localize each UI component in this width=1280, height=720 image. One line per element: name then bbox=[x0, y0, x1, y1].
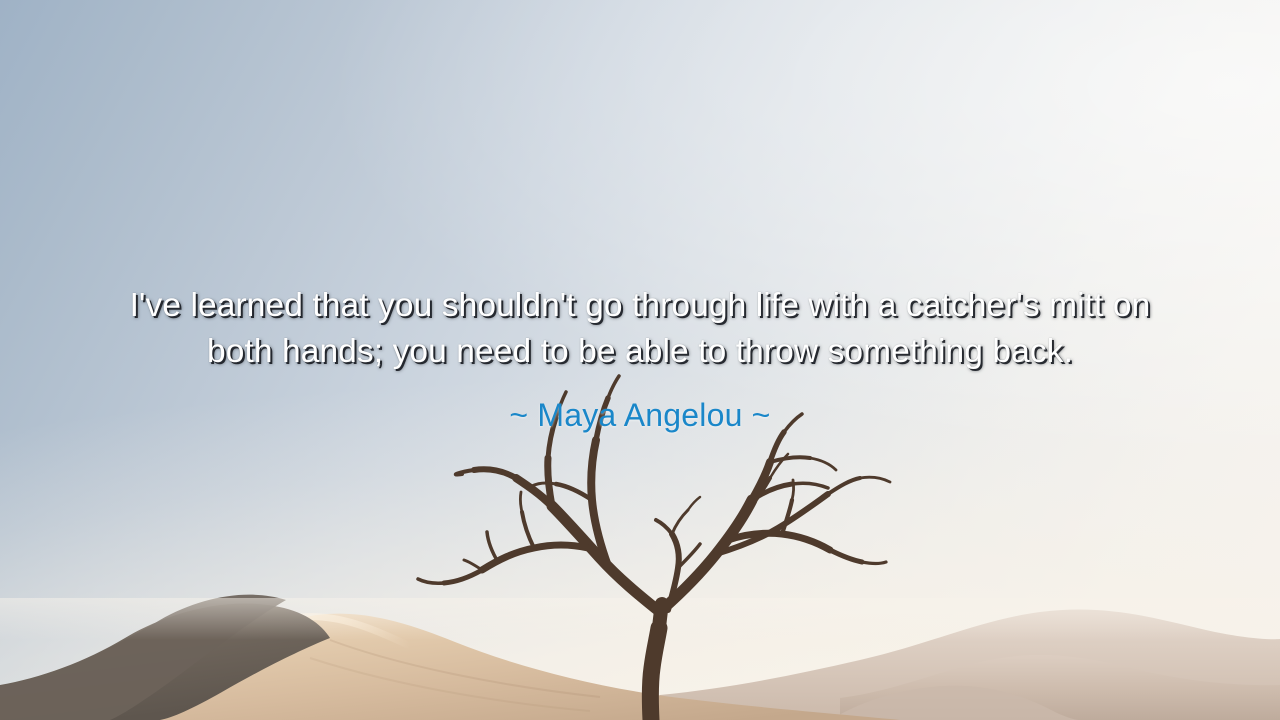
quote-author: ~ Maya Angelou ~ bbox=[105, 395, 1175, 435]
quote-card: I've learned that you shouldn't go throu… bbox=[105, 283, 1175, 435]
quote-image: I've learned that you shouldn't go throu… bbox=[0, 0, 1280, 720]
quote-text: I've learned that you shouldn't go throu… bbox=[105, 283, 1175, 375]
